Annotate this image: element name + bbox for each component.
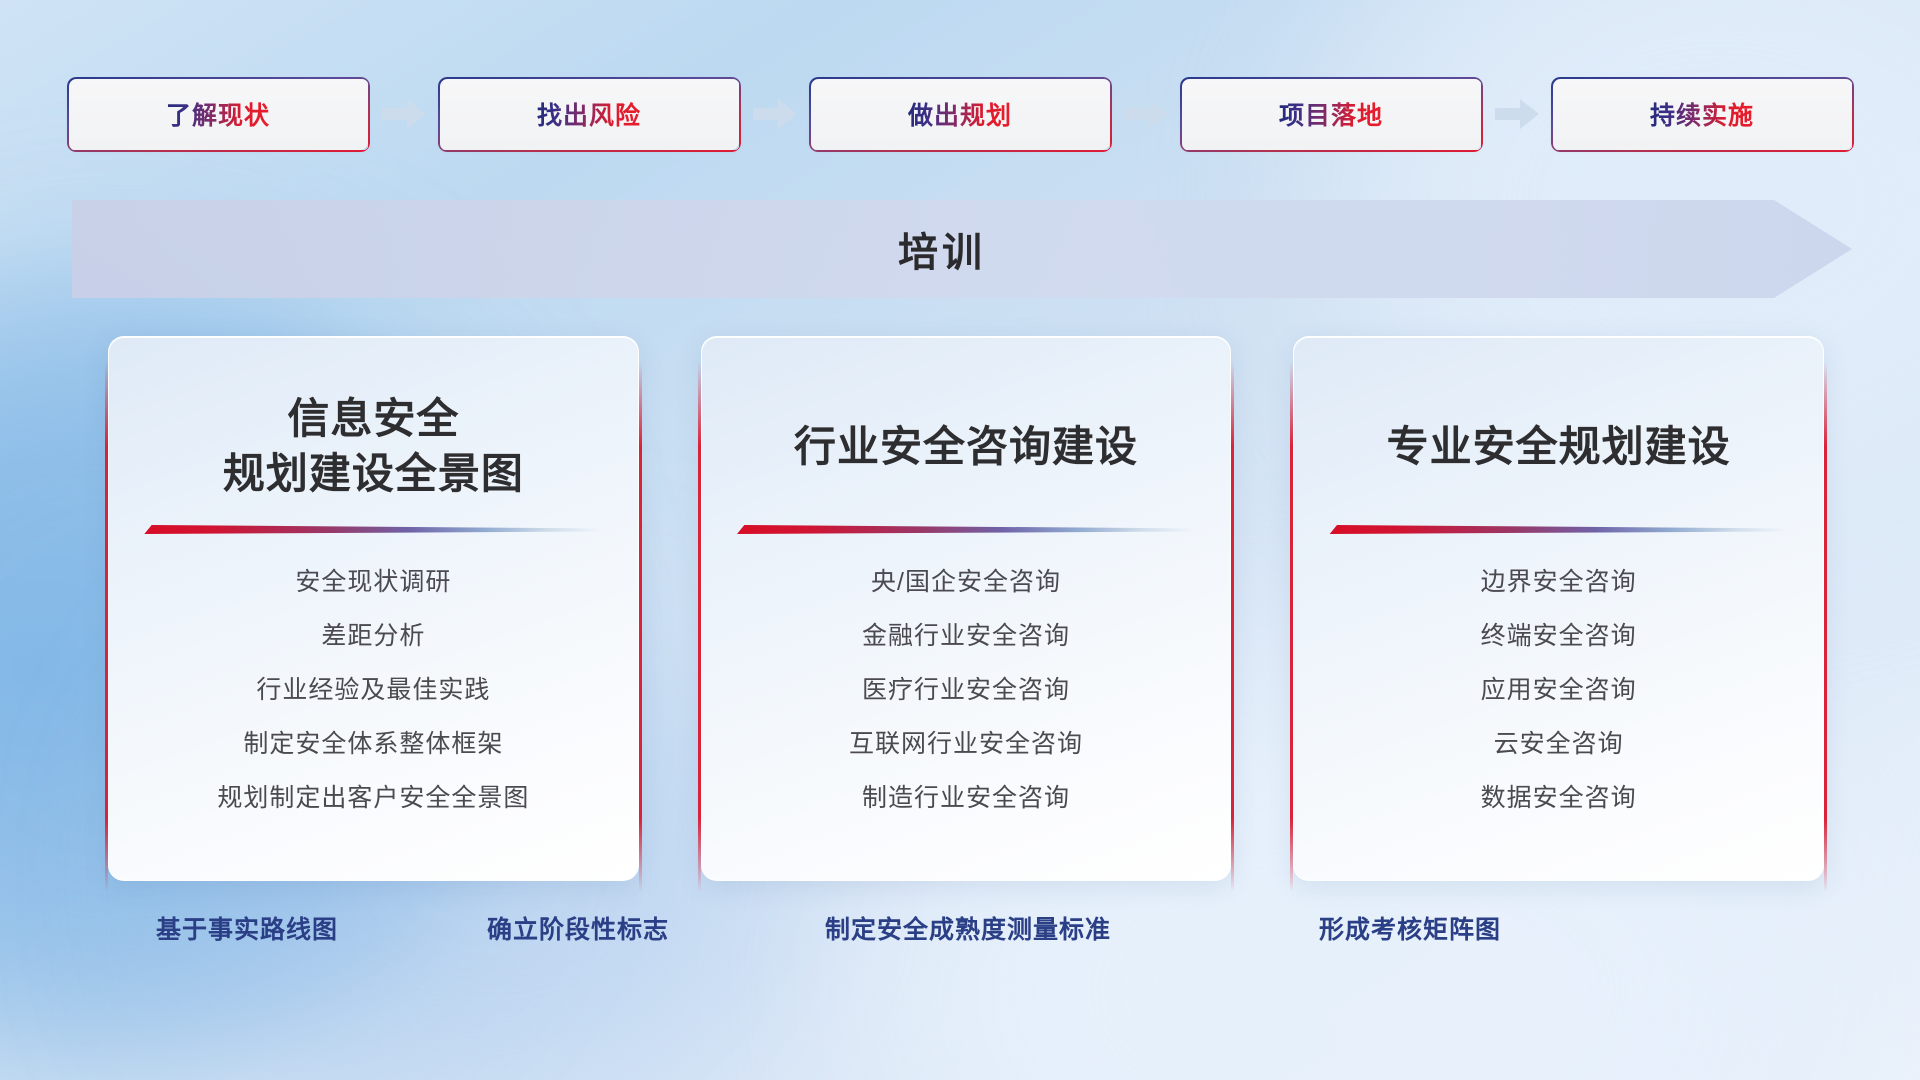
step-label: 项目落地 — [1279, 96, 1383, 132]
step-box-3[interactable]: 做出规划 — [810, 78, 1110, 150]
card-item-list: 边界安全咨询 终端安全咨询 应用安全咨询 云安全咨询 数据安全咨询 — [1481, 562, 1637, 814]
step-arrow-4 — [1481, 99, 1552, 129]
process-step-flow: 了解现状 找出风险 做出规划 项目落地 — [68, 78, 1852, 150]
card-title-line: 专业安全规划建设 — [1387, 420, 1731, 475]
step-box-4[interactable]: 项目落地 — [1181, 78, 1481, 150]
slide-canvas: 了解现状 找出风险 做出规划 项目落地 — [0, 0, 1920, 1080]
step-label: 做出规划 — [908, 96, 1012, 132]
list-item: 安全现状调研 — [295, 562, 451, 598]
card-1[interactable]: 信息安全 规划建设全景图 安全现状调研 差距分析 行业经验及最佳实践 制定安全体… — [108, 336, 639, 881]
step-box-2[interactable]: 找出风险 — [439, 78, 739, 150]
step-box-1[interactable]: 了解现状 — [68, 78, 368, 150]
banner-label: 培训 — [72, 200, 1852, 298]
card-title-line: 信息安全 — [223, 392, 524, 447]
card-title-line: 行业安全咨询建设 — [794, 420, 1138, 475]
card-item-list: 安全现状调研 差距分析 行业经验及最佳实践 制定安全体系整体框架 规划制定出客户… — [217, 562, 529, 814]
card-title: 行业安全咨询建设 — [794, 391, 1138, 503]
list-item: 应用安全咨询 — [1481, 670, 1637, 706]
arrow-right-icon — [382, 99, 426, 129]
list-item: 互联网行业安全咨询 — [849, 724, 1083, 760]
footer-label-4: 形成考核矩阵图 — [1319, 910, 1501, 946]
footer-label-row: 基于事实路线图 确立阶段性标志 制定安全成熟度测量标准 形成考核矩阵图 — [0, 910, 1920, 960]
card-3[interactable]: 专业安全规划建设 边界安全咨询 终端安全咨询 应用安全咨询 云安全咨询 数据安全… — [1293, 336, 1824, 881]
list-item: 制定安全体系整体框架 — [243, 724, 503, 760]
card-accent-right — [1231, 362, 1234, 892]
card-accent-right — [1824, 362, 1827, 892]
card-title-line: 规划建设全景图 — [223, 447, 524, 502]
list-item: 金融行业安全咨询 — [862, 616, 1070, 652]
card-wrapper-3: 专业安全规划建设 边界安全咨询 终端安全咨询 应用安全咨询 云安全咨询 数据安全… — [1293, 336, 1824, 881]
list-item: 医疗行业安全咨询 — [862, 670, 1070, 706]
card-wrapper-2: 行业安全咨询建设 央/国企安全咨询 金融行业安全咨询 医疗行业安全咨询 互联网行… — [701, 336, 1232, 881]
list-item: 央/国企安全咨询 — [871, 562, 1061, 598]
list-item: 数据安全咨询 — [1481, 778, 1637, 814]
step-label: 持续实施 — [1650, 96, 1754, 132]
card-wrapper-1: 信息安全 规划建设全景图 安全现状调研 差距分析 行业经验及最佳实践 制定安全体… — [108, 336, 639, 881]
card-divider — [144, 525, 602, 534]
training-banner: 培训 — [72, 200, 1852, 298]
arrow-right-icon — [1124, 99, 1168, 129]
card-accent-right — [639, 362, 642, 892]
card-title: 专业安全规划建设 — [1387, 391, 1731, 503]
step-label: 了解现状 — [166, 96, 270, 132]
arrow-right-icon — [753, 99, 797, 129]
list-item: 规划制定出客户安全全景图 — [217, 778, 529, 814]
card-title: 信息安全 规划建设全景图 — [223, 391, 524, 503]
card-divider — [1330, 525, 1788, 534]
footer-label-1: 基于事实路线图 — [156, 910, 338, 946]
step-arrow-1 — [368, 99, 439, 129]
card-2[interactable]: 行业安全咨询建设 央/国企安全咨询 金融行业安全咨询 医疗行业安全咨询 互联网行… — [701, 336, 1232, 881]
step-label: 找出风险 — [537, 96, 641, 132]
list-item: 制造行业安全咨询 — [862, 778, 1070, 814]
step-arrow-3 — [1110, 99, 1181, 129]
step-arrow-2 — [739, 99, 810, 129]
list-item: 边界安全咨询 — [1481, 562, 1637, 598]
list-item: 行业经验及最佳实践 — [256, 670, 490, 706]
card-item-list: 央/国企安全咨询 金融行业安全咨询 医疗行业安全咨询 互联网行业安全咨询 制造行… — [849, 562, 1083, 814]
footer-label-2: 确立阶段性标志 — [487, 910, 669, 946]
arrow-right-icon — [1495, 99, 1539, 129]
list-item: 云安全咨询 — [1494, 724, 1624, 760]
step-box-5[interactable]: 持续实施 — [1552, 78, 1852, 150]
card-row: 信息安全 规划建设全景图 安全现状调研 差距分析 行业经验及最佳实践 制定安全体… — [108, 336, 1824, 881]
footer-label-3: 制定安全成熟度测量标准 — [825, 910, 1111, 946]
list-item: 终端安全咨询 — [1481, 616, 1637, 652]
list-item: 差距分析 — [321, 616, 425, 652]
card-divider — [737, 525, 1195, 534]
